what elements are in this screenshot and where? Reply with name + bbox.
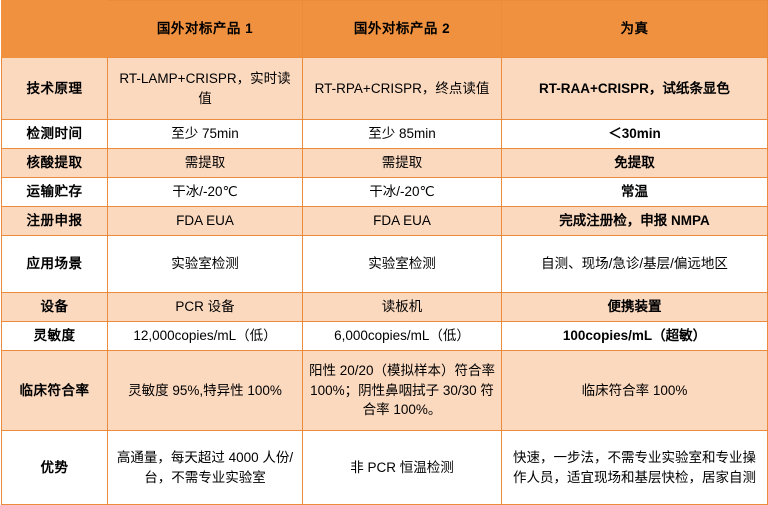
- cell-r7-c0: 12,000copies/mL（低）: [108, 322, 303, 351]
- row-label: 技术原理: [2, 58, 108, 120]
- table-row: 临床符合率灵敏度 95%,特异性 100%阳性 20/20（模拟样本）符合率 1…: [2, 351, 768, 431]
- header-cell-product-2: 国外对标产品 2: [303, 1, 502, 58]
- cell-r5-c2: 自测、现场/急诊/基层/偏远地区: [502, 236, 768, 293]
- row-label: 设备: [2, 293, 108, 322]
- cell-r2-c0: 需提取: [108, 149, 303, 178]
- cell-r9-c0: 高通量，每天超过 4000 人份/台，不需专业实验室: [108, 431, 303, 505]
- cell-r2-c2: 免提取: [502, 149, 768, 178]
- cell-r8-c0: 灵敏度 95%,特异性 100%: [108, 351, 303, 431]
- table-row: 设备PCR 设备读板机便携装置: [2, 293, 768, 322]
- cell-r4-c1: FDA EUA: [303, 207, 502, 236]
- cell-r4-c2: 完成注册检，申报 NMPA: [502, 207, 768, 236]
- cell-r6-c0: PCR 设备: [108, 293, 303, 322]
- table-header: 国外对标产品 1 国外对标产品 2 为真: [2, 1, 768, 58]
- table-body: 技术原理RT-LAMP+CRISPR，实时读值RT-RPA+CRISPR，终点读…: [2, 58, 768, 505]
- table-row: 注册申报FDA EUAFDA EUA完成注册检，申报 NMPA: [2, 207, 768, 236]
- row-label: 灵敏度: [2, 322, 108, 351]
- cell-r7-c2: 100copies/mL（超敏）: [502, 322, 768, 351]
- cell-r6-c1: 读板机: [303, 293, 502, 322]
- cell-r0-c0: RT-LAMP+CRISPR，实时读值: [108, 58, 303, 120]
- row-label: 核酸提取: [2, 149, 108, 178]
- cell-r1-c0: 至少 75min: [108, 120, 303, 149]
- cell-r1-c1: 至少 85min: [303, 120, 502, 149]
- cell-r5-c0: 实验室检测: [108, 236, 303, 293]
- cell-r8-c2: 临床符合率 100%: [502, 351, 768, 431]
- cell-r9-c2: 快速，一步法，不需专业实验室和专业操作人员，适宜现场和基层快检，居家自测: [502, 431, 768, 505]
- row-label: 临床符合率: [2, 351, 108, 431]
- cell-r0-c1: RT-RPA+CRISPR，终点读值: [303, 58, 502, 120]
- cell-r3-c1: 干冰/-20℃: [303, 178, 502, 207]
- cell-r8-c1: 阳性 20/20（模拟样本）符合率 100%；阴性鼻咽拭子 30/30 符合率 …: [303, 351, 502, 431]
- header-cell-corner: [2, 1, 108, 58]
- cell-r3-c0: 干冰/-20℃: [108, 178, 303, 207]
- table-row: 技术原理RT-LAMP+CRISPR，实时读值RT-RPA+CRISPR，终点读…: [2, 58, 768, 120]
- header-row: 国外对标产品 1 国外对标产品 2 为真: [2, 1, 768, 58]
- row-label: 优势: [2, 431, 108, 505]
- row-label: 检测时间: [2, 120, 108, 149]
- cell-r3-c2: 常温: [502, 178, 768, 207]
- table-row: 应用场景实验室检测实验室检测自测、现场/急诊/基层/偏远地区: [2, 236, 768, 293]
- cell-r1-c2: ＜30min: [502, 120, 768, 149]
- row-label: 应用场景: [2, 236, 108, 293]
- product-comparison-table: 国外对标产品 1 国外对标产品 2 为真 技术原理RT-LAMP+CRISPR，…: [1, 0, 768, 505]
- cell-r7-c1: 6,000copies/mL（低）: [303, 322, 502, 351]
- cell-r2-c1: 需提取: [303, 149, 502, 178]
- table-row: 检测时间至少 75min至少 85min＜30min: [2, 120, 768, 149]
- cell-r4-c0: FDA EUA: [108, 207, 303, 236]
- row-label: 运输贮存: [2, 178, 108, 207]
- table-row: 运输贮存干冰/-20℃干冰/-20℃常温: [2, 178, 768, 207]
- table-row: 灵敏度12,000copies/mL（低）6,000copies/mL（低）10…: [2, 322, 768, 351]
- table-row: 核酸提取需提取需提取免提取: [2, 149, 768, 178]
- comparison-sheet: 国外对标产品 1 国外对标产品 2 为真 技术原理RT-LAMP+CRISPR，…: [0, 0, 768, 504]
- row-label: 注册申报: [2, 207, 108, 236]
- cell-r6-c2: 便携装置: [502, 293, 768, 322]
- cell-r9-c1: 非 PCR 恒温检测: [303, 431, 502, 505]
- header-cell-product-1: 国外对标产品 1: [108, 1, 303, 58]
- header-cell-weizhen: 为真: [502, 1, 768, 58]
- cell-r0-c2: RT-RAA+CRISPR，试纸条显色: [502, 58, 768, 120]
- table-row: 优势高通量，每天超过 4000 人份/台，不需专业实验室非 PCR 恒温检测快速…: [2, 431, 768, 505]
- cell-r5-c1: 实验室检测: [303, 236, 502, 293]
